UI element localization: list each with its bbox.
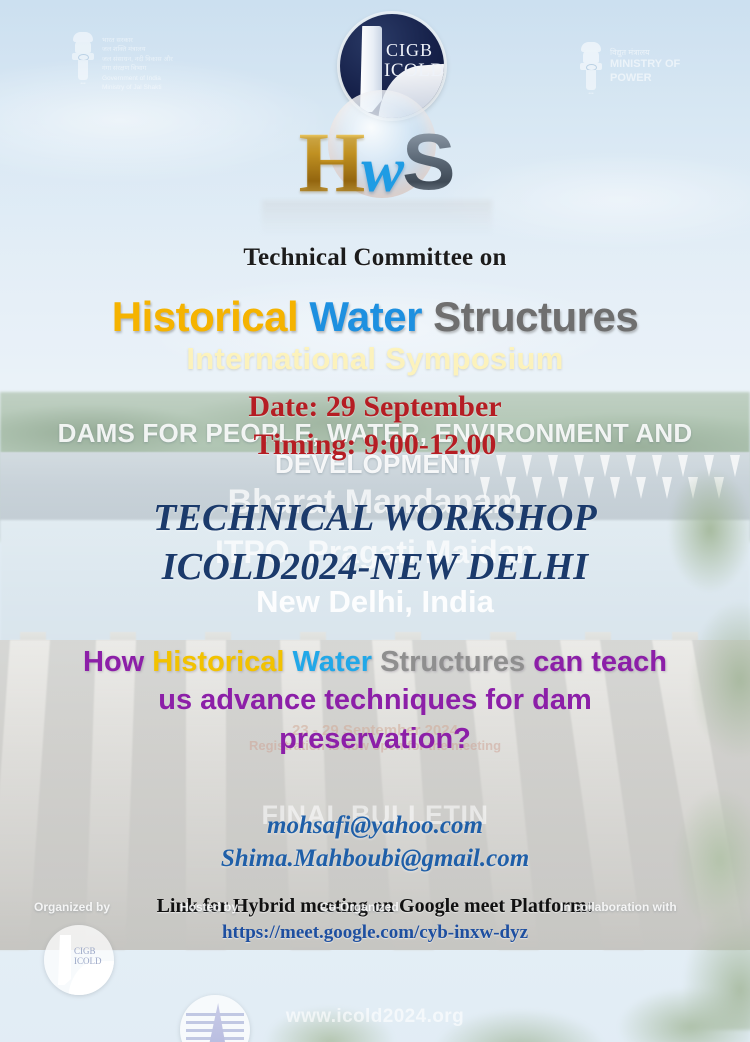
icold-hws-workshop-poster: International Symposium DAMS FOR PEOPLE,… xyxy=(0,0,750,1042)
question-seg-how: How xyxy=(83,646,152,678)
ministry-of-power-text: विद्युत मंत्रालय MINISTRY OF POWER xyxy=(610,40,680,102)
sponsor-label-co-organized: Co-Organized xyxy=(320,900,399,914)
title-word-historical: Historical xyxy=(112,293,298,340)
contact-emails: mohsafi@yahoo.com Shima.Mahboubi@gmail.c… xyxy=(0,810,750,875)
schedule-block: Date: 29 September Timing: 9:00-12.00 xyxy=(0,388,750,465)
ministry-of-power-emblem: ••• विद्युत मंत्रालय MINISTRY OF POWER xyxy=(578,40,738,102)
question-seg-can-teach: can teach xyxy=(533,646,667,678)
question-line3: preservation? xyxy=(0,720,750,758)
icold-logo-line1: CIGB xyxy=(386,40,433,61)
ministry-of-power-hindi: विद्युत मंत्रालय xyxy=(610,48,680,58)
hws-logo-w-wave-icon: w xyxy=(361,138,404,202)
hws-logo-s: S xyxy=(402,122,455,202)
ashoka-pillar-icon: ••• xyxy=(578,40,604,100)
contact-email-2[interactable]: Shima.Mahboubi@gmail.com xyxy=(0,843,750,876)
sponsor-logo-cigb-icold: CIGB ICOLD xyxy=(44,925,114,995)
sponsor-labels: Organized by Hosted by Co-Organized In c… xyxy=(0,900,750,918)
government-of-india-emblem: ••• भारत सरकार जल शक्ति मंत्रालय जल संसा… xyxy=(70,30,270,102)
question-seg-water: Water xyxy=(293,646,381,678)
event-timing: Timing: 9:00-12.00 xyxy=(0,426,750,464)
icold-logo-line2: ICOLD xyxy=(384,60,444,82)
title-word-water: Water xyxy=(309,293,422,340)
event-date: Date: 29 September xyxy=(0,388,750,426)
question-seg-structures: Structures xyxy=(380,646,533,678)
hws-logo-h: H xyxy=(299,119,366,205)
sponsor-label-in-collaboration-with: In collaboration with xyxy=(560,900,677,914)
sponsor-label-organized-by: Organized by xyxy=(34,900,110,914)
sponsor-logo-row: CIGB ICOLD एनएचपीसी N H P C CBIP xyxy=(0,925,750,1001)
workshop-heading: TECHNICAL WORKSHOP ICOLD2024-NEW DELHI xyxy=(0,494,750,593)
hws-logo-reflection xyxy=(262,200,492,234)
page-title: Historical Water Structures xyxy=(0,293,750,341)
sponsor-label-hosted-by: Hosted by xyxy=(180,900,238,914)
committee-label: Technical Committee on xyxy=(0,244,750,272)
ministry-of-power-line1: MINISTRY OF xyxy=(610,58,680,70)
contact-email-1[interactable]: mohsafi@yahoo.com xyxy=(0,810,750,843)
ashoka-pillar-icon: ••• xyxy=(70,30,96,90)
title-word-structures: Structures xyxy=(433,293,638,340)
question-line2: us advance techniques for dam xyxy=(0,681,750,719)
workshop-line1: TECHNICAL WORKSHOP xyxy=(0,494,750,543)
workshop-question: How Historical Water Structures can teac… xyxy=(0,643,750,758)
emblem-left-text: भारत सरकार जल शक्ति मंत्रालय जल संसाधन, … xyxy=(102,30,173,102)
question-seg-historical: Historical xyxy=(152,646,292,678)
question-line1: How Historical Water Structures can teac… xyxy=(0,643,750,681)
sponsor-logo-cigb-icold-text: CIGB ICOLD xyxy=(74,947,114,967)
workshop-line2: ICOLD2024-NEW DELHI xyxy=(0,543,750,592)
ministry-of-power-line2: POWER xyxy=(610,72,652,84)
